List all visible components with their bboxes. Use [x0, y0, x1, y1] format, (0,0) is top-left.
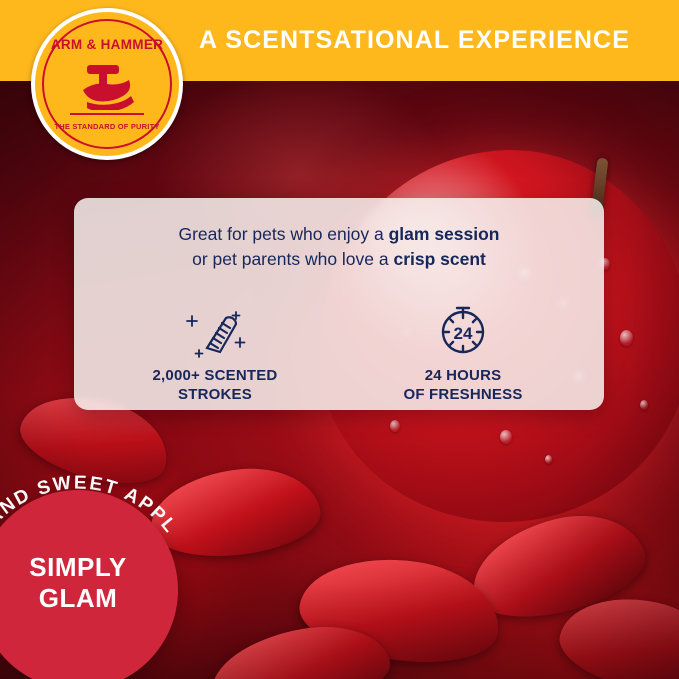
card-headline-line1-text: Great for pets who enjoy a	[178, 224, 388, 244]
card-headline-line2-emphasis: crisp scent	[393, 249, 485, 269]
scent-title-line1: SIMPLY	[29, 552, 126, 582]
water-droplet	[500, 430, 512, 444]
feature-list: 2,000+ SCENTED STROKES 24	[74, 302, 604, 404]
stopwatch-value: 24	[454, 324, 473, 343]
feature-scented-strokes: 2,000+ SCENTED STROKES	[120, 302, 310, 404]
water-droplet	[620, 330, 633, 346]
scent-badge: ROSE AND SWEET APPLE SIMPLY GLAM	[0, 468, 200, 679]
scent-title: SIMPLY GLAM	[0, 552, 178, 614]
logo-tagline: THE STANDARD OF PURITY	[44, 122, 170, 131]
brand-logo: ARM & HAMMER THE STANDARD OF PURITY	[31, 8, 183, 160]
logo-inner-ring: ARM & HAMMER THE STANDARD OF PURITY	[42, 19, 172, 149]
feature-24-hours-line2: OF FRESHNESS	[403, 386, 522, 403]
card-headline-line1: Great for pets who enjoy a glam session	[178, 224, 499, 244]
logo-brand-name: ARM & HAMMER	[44, 37, 170, 52]
feature-scented-strokes-label: 2,000+ SCENTED STROKES	[120, 366, 310, 404]
product-lifestyle-image: A SCENTSATIONAL EXPERIENCE ARM & HAMMER …	[0, 0, 679, 679]
stopwatch-24-icon: 24	[368, 302, 558, 358]
feature-24-hours-freshness: 24 24 HOURS OF FRESHNESS	[368, 302, 558, 404]
feature-scented-strokes-line2: STROKES	[178, 386, 252, 403]
water-droplet	[640, 400, 648, 410]
feature-24-hours-label: 24 HOURS OF FRESHNESS	[368, 366, 558, 404]
feature-24-hours-line1: 24 HOURS	[425, 367, 502, 384]
card-headline: Great for pets who enjoy a glam session …	[74, 222, 604, 272]
card-headline-line2: or pet parents who love a crisp scent	[192, 249, 486, 269]
card-headline-line1-emphasis: glam session	[389, 224, 500, 244]
arm-and-hammer-icon	[73, 64, 141, 110]
benefits-card: Great for pets who enjoy a glam session …	[74, 198, 604, 410]
water-droplet	[390, 420, 400, 432]
card-headline-line2-text: or pet parents who love a	[192, 249, 393, 269]
sparkle-brush-icon	[120, 302, 310, 358]
scent-title-line2: GLAM	[39, 583, 118, 613]
water-droplet	[545, 455, 552, 464]
feature-scented-strokes-line1: 2,000+ SCENTED	[153, 367, 278, 384]
logo-divider	[70, 113, 144, 115]
